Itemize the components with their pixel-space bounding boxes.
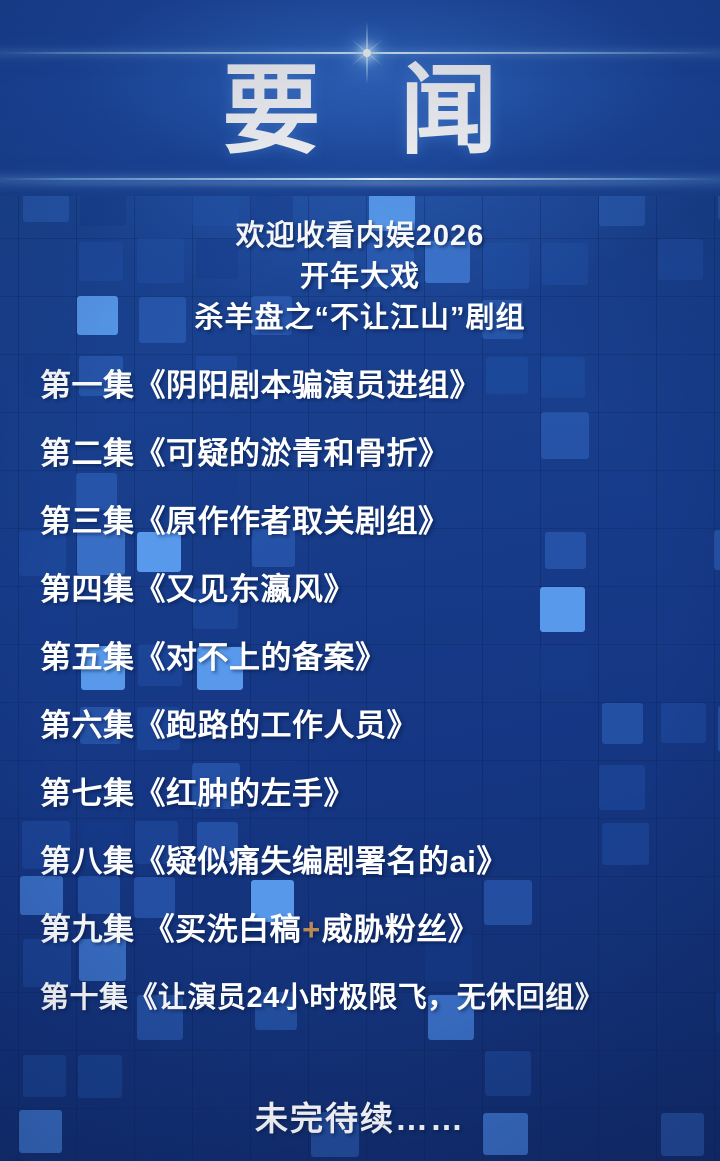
list-item: 第六集《跑路的工作人员》: [0, 692, 720, 760]
subtitle-block: 欢迎收看内娱2026 开年大戏 杀羊盘之“不让江山”剧组: [0, 216, 720, 339]
list-item: 第九集 《买洗白稿+威胁粉丝》: [0, 896, 720, 964]
footer-text: 未完待续……: [0, 1092, 720, 1140]
list-item: 第五集《对不上的备案》: [0, 624, 720, 692]
list-item: 第三集《原作作者取关剧组》: [0, 488, 720, 556]
subtitle-line-1: 欢迎收看内娱2026: [0, 216, 720, 257]
list-item: 第八集《疑似痛失编剧署名的ai》: [0, 828, 720, 896]
subtitle-line-2: 开年大戏: [0, 257, 720, 298]
list-item: 第七集《红肿的左手》: [0, 760, 720, 828]
list-item-text-before: 第九集 《买洗白稿: [40, 912, 301, 947]
header-bottom-glow-line: [0, 178, 720, 180]
list-item: 第一集《阴阳剧本骗演员进组》: [0, 352, 720, 420]
plus-icon: +: [301, 912, 322, 947]
poster-root: 要 闻 欢迎收看内娱2026 开年大戏 杀羊盘之“不让江山”剧组 第一集《阴阳剧…: [0, 0, 720, 1161]
list-item-text-after: 威胁粉丝》: [322, 912, 480, 947]
list-item: 第十集《让演员24小时极限飞，无休回组》: [0, 964, 720, 1032]
header-bottom-glow-halo: [0, 182, 720, 185]
subtitle-line-3: 杀羊盘之“不让江山”剧组: [0, 298, 720, 339]
header-top-glow-line: [0, 52, 720, 54]
page-title: 要 闻: [0, 56, 720, 164]
episode-list: 第一集《阴阳剧本骗演员进组》 第二集《可疑的淤青和骨折》 第三集《原作作者取关剧…: [0, 352, 720, 1032]
list-item: 第二集《可疑的淤青和骨折》: [0, 420, 720, 488]
list-item: 第四集《又见东瀛风》: [0, 556, 720, 624]
header-banner: 要 闻: [0, 0, 720, 196]
